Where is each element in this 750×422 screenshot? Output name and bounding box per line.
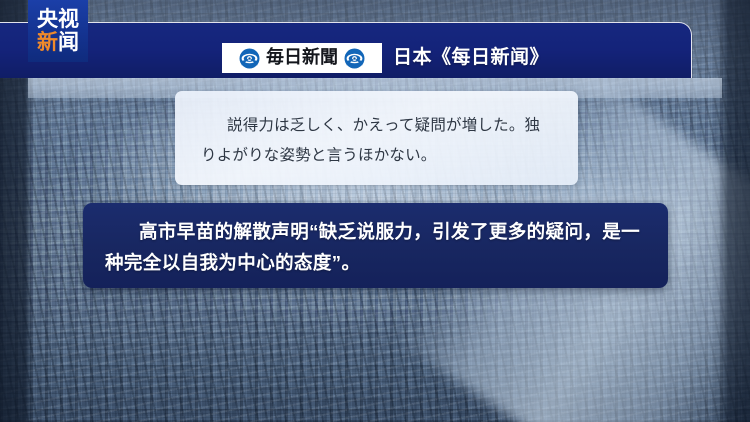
header-source-title: 日本《每日新闻》 xyxy=(393,44,549,72)
logo-char-xin: 新 xyxy=(37,31,58,54)
news-broadcast-frame: 央视 新闻 毎日新聞 日本《每日新闻》 説得力は乏しく、かえって疑問が増した。独… xyxy=(0,0,750,422)
mainichi-shimbun-name: 毎日新聞 xyxy=(266,49,338,67)
cctv-news-logo: 央视 新闻 xyxy=(28,0,88,62)
mainichi-eye-emblem-left-icon xyxy=(239,48,260,69)
logo-line-yangshi: 央视 xyxy=(37,9,79,30)
original-quote-text: 説得力は乏しく、かえって疑問が増した。独りよがりな姿勢と言うほかない。 xyxy=(201,110,552,170)
mainichi-shimbun-masthead: 毎日新聞 xyxy=(222,43,382,73)
translation-quote-panel: 高市早苗的解散声明“缺乏说服力，引发了更多的疑问，是一种完全以自我为中心的态度”… xyxy=(83,203,668,288)
mainichi-eye-emblem-right-icon xyxy=(344,48,365,69)
translation-quote-text: 高市早苗的解散声明“缺乏说服力，引发了更多的疑问，是一种完全以自我为中心的态度”… xyxy=(105,216,646,278)
logo-char-wen: 闻 xyxy=(58,31,79,54)
logo-line-xinwen: 新闻 xyxy=(37,32,79,53)
original-quote-panel: 説得力は乏しく、かえって疑問が増した。独りよがりな姿勢と言うほかない。 xyxy=(175,91,578,185)
